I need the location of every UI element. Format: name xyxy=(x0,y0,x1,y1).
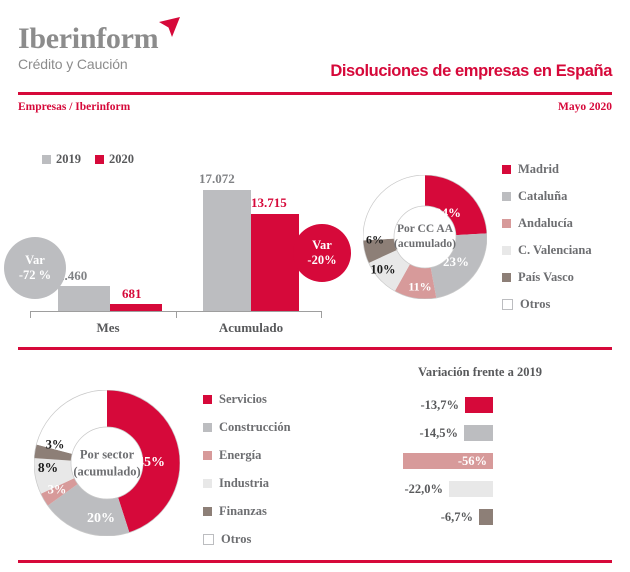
legend-item-construccion: Construcción xyxy=(203,420,291,435)
legend-item-madrid: Madrid xyxy=(502,162,592,177)
axis-tick-left xyxy=(30,312,31,318)
legend-label-paisvasco: País Vasco xyxy=(518,270,574,285)
axis-tick-center xyxy=(176,312,177,318)
bar-chart-disoluciones: 2019 2020 2.460 681 17.072 13.715 Var -7… xyxy=(0,140,340,340)
variation-chart-title: Variación frente a 2019 xyxy=(345,365,615,380)
bar-label-acumulado-2019: 17.072 xyxy=(199,171,235,187)
variation-row-construccion: -14,5% xyxy=(345,425,493,441)
donut-ccaa-legend: Madrid Cataluña Andalucía C. Valenciana … xyxy=(502,162,592,312)
divider-top xyxy=(18,92,612,95)
donut-sector-value-construccion: 20% xyxy=(87,511,115,527)
bar-acumulado-2020 xyxy=(251,214,299,311)
variation-value-energia: -56% xyxy=(458,453,487,469)
brand-logo: Iberinform Crédito y Caución xyxy=(18,24,278,72)
legend-label-2019: 2019 xyxy=(56,152,81,167)
donut-ccaa-value-cvalenciana: 10% xyxy=(371,263,396,278)
donut-sector-inner-edge xyxy=(71,427,143,499)
variation-row-finanzas: -6,7% xyxy=(345,509,493,525)
legend-label-2020: 2020 xyxy=(109,152,134,167)
donut-ccaa-value-paisvasco: 6% xyxy=(366,233,384,248)
legend-item-paisvasco: País Vasco xyxy=(502,270,592,285)
donut-ccaa-value-cataluna: 23% xyxy=(443,254,469,270)
legend-swatch-2020 xyxy=(95,155,104,164)
legend-swatch-otros-sector xyxy=(203,534,214,545)
legend-label-cataluna: Cataluña xyxy=(518,189,567,204)
legend-swatch-finanzas xyxy=(203,507,212,516)
variation-bar-finanzas xyxy=(479,509,493,525)
legend-label-otros-sector: Otros xyxy=(221,532,251,547)
legend-swatch-2019 xyxy=(42,155,51,164)
donut-sector-value-servicios: 45% xyxy=(137,455,165,471)
legend-item-cvalenciana: C. Valenciana xyxy=(502,243,592,258)
variation-value-industria: -22,0% xyxy=(404,481,443,497)
bar-label-mes-2020: 681 xyxy=(122,286,142,302)
legend-swatch-cataluna xyxy=(502,192,511,201)
variation-value-servicios: -13,7% xyxy=(420,397,459,413)
brand-name-wrap: Iberinform xyxy=(18,24,158,54)
legend-item-industria: Industria xyxy=(203,476,291,491)
legend-swatch-energia xyxy=(203,451,212,460)
legend-item-otros-sector: Otros xyxy=(203,532,291,547)
report-date: Mayo 2020 xyxy=(558,101,612,113)
donut-sector-value-energia: 3% xyxy=(48,483,67,498)
variation-bubble-acumulado-value: -20% xyxy=(307,253,336,268)
variation-value-finanzas: -6,7% xyxy=(441,509,473,525)
brand-name: Iberinform xyxy=(18,22,158,55)
donut-sector-value-finanzas: 3% xyxy=(46,438,65,453)
page-title: Disoluciones de empresas en España xyxy=(330,62,612,81)
brand-tagline: Crédito y Caución xyxy=(18,56,278,72)
legend-swatch-otros-ccaa xyxy=(502,299,513,310)
legend-item-andalucia: Andalucía xyxy=(502,216,592,231)
donut-chart-ccaa: Por CC AA (acumulado) 24% 23% 11% 10% 6% xyxy=(363,175,487,299)
donut-ccaa-value-andalucia: 11% xyxy=(408,280,431,295)
divider-middle xyxy=(18,347,612,350)
donut-sector-value-industria: 8% xyxy=(38,460,58,476)
legend-item-servicios: Servicios xyxy=(203,392,291,407)
legend-item-2020: 2020 xyxy=(95,152,134,167)
variation-row-energia: -56% xyxy=(345,453,493,469)
variation-bubble-mes-value: -72 % xyxy=(19,268,51,283)
variation-bubble-acumulado: Var -20% xyxy=(293,224,351,282)
legend-label-construccion: Construcción xyxy=(219,420,291,435)
legend-label-madrid: Madrid xyxy=(518,162,559,177)
bar-category-mes: Mes xyxy=(60,320,156,336)
legend-item-cataluna: Cataluña xyxy=(502,189,592,204)
legend-label-cvalenciana: C. Valenciana xyxy=(518,243,592,258)
donut-sector-legend: Servicios Construcción Energía Industria… xyxy=(203,392,291,547)
legend-label-otros-ccaa: Otros xyxy=(520,297,550,312)
legend-swatch-madrid xyxy=(502,165,511,174)
divider-bottom xyxy=(18,560,612,563)
donut-ccaa-value-madrid: 24% xyxy=(435,205,461,221)
brand-checkmark-icon xyxy=(156,16,182,38)
legend-label-energia: Energía xyxy=(219,448,261,463)
legend-swatch-construccion xyxy=(203,423,212,432)
breadcrumb: Empresas / Iberinform xyxy=(18,101,130,113)
bar-label-acumulado-2020: 13.715 xyxy=(251,195,287,211)
legend-swatch-andalucia xyxy=(502,219,511,228)
legend-swatch-industria xyxy=(203,479,212,488)
variation-bar-industria xyxy=(449,481,493,497)
bar-chart-legend: 2019 2020 xyxy=(42,152,134,167)
variation-chart: Variación frente a 2019 -13,7% -14,5% -5… xyxy=(345,365,615,525)
legend-item-2019: 2019 xyxy=(42,152,81,167)
variation-bubble-mes-caption: Var xyxy=(25,253,45,268)
legend-swatch-cvalenciana xyxy=(502,246,511,255)
bar-mes-2019 xyxy=(58,286,110,311)
legend-label-andalucia: Andalucía xyxy=(518,216,573,231)
legend-label-servicios: Servicios xyxy=(219,392,267,407)
legend-label-industria: Industria xyxy=(219,476,269,491)
infographic-page: Iberinform Crédito y Caución Disolucione… xyxy=(0,0,630,572)
variation-row-industria: -22,0% xyxy=(345,481,493,497)
legend-item-energia: Energía xyxy=(203,448,291,463)
bar-acumulado-2019 xyxy=(203,190,251,311)
axis-tick-right xyxy=(321,312,322,318)
legend-item-otros-ccaa: Otros xyxy=(502,297,592,312)
legend-swatch-servicios xyxy=(203,395,212,404)
variation-row-servicios: -13,7% xyxy=(345,397,493,413)
variation-bar-construccion xyxy=(464,425,493,441)
legend-item-finanzas: Finanzas xyxy=(203,504,291,519)
donut-chart-sector: Por sector (acumulado) 45% 20% 3% 8% 3% xyxy=(34,390,180,536)
bar-category-acumulado: Acumulado xyxy=(196,320,306,336)
variation-value-construccion: -14,5% xyxy=(419,425,458,441)
legend-label-finanzas: Finanzas xyxy=(219,504,267,519)
legend-swatch-paisvasco xyxy=(502,273,511,282)
variation-bubble-mes: Var -72 % xyxy=(4,237,66,299)
variation-bubble-acumulado-caption: Var xyxy=(312,238,332,253)
variation-bar-servicios xyxy=(465,397,493,413)
